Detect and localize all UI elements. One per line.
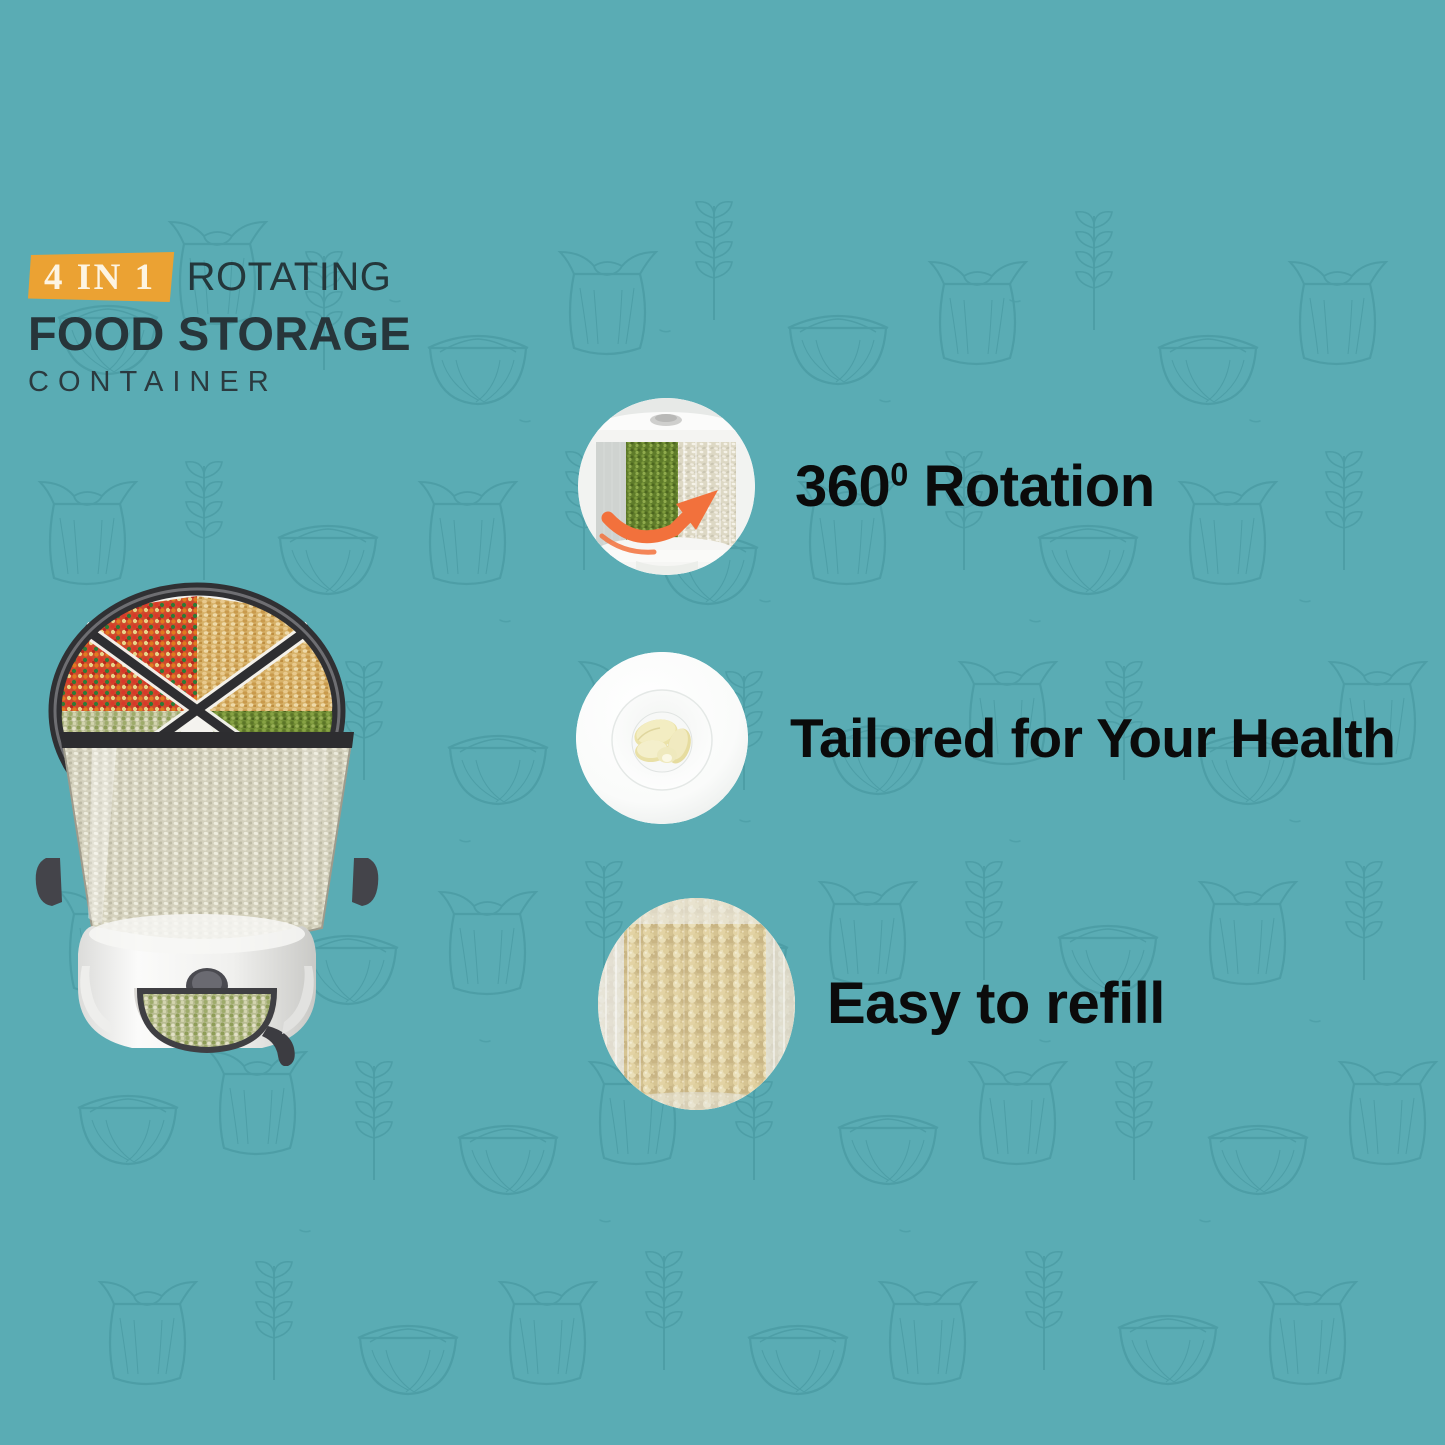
feature-label-rotation-suffix: Rotation	[908, 454, 1155, 519]
title-main-line: FOOD STORAGE	[28, 309, 548, 359]
title-sub-line: CONTAINER	[28, 368, 548, 397]
title-block: 4 IN 1 ROTATING FOOD STORAGE CONTAINER	[28, 250, 548, 397]
feature-label-refill: Easy to refill	[827, 975, 1165, 1033]
feature-label-rotation: 3600 Rotation	[795, 458, 1155, 516]
garlic-plate-photo	[576, 652, 748, 824]
feature-row-health: Tailored for Your Health	[576, 652, 1395, 824]
feature-label-rotation-degree: 0	[890, 456, 908, 492]
chickpeas-container-photo	[598, 898, 795, 1110]
container-rotation-photo	[578, 398, 755, 575]
feature-label-rotation-prefix: 360	[795, 454, 890, 519]
feature-row-rotation: 3600 Rotation	[578, 398, 1155, 575]
feature-row-refill: Easy to refill	[598, 898, 1165, 1110]
feature-label-health: Tailored for Your Health	[790, 711, 1395, 766]
badge-4-in-1-label: 4 IN 1	[44, 259, 156, 296]
product-photo	[22, 536, 392, 1066]
badge-4-in-1: 4 IN 1	[28, 252, 176, 302]
title-first-line: 4 IN 1 ROTATING	[28, 250, 548, 304]
title-rotating-word: ROTATING	[187, 257, 392, 297]
product-infographic: 4 IN 1 ROTATING FOOD STORAGE CONTAINER	[0, 0, 1445, 1445]
